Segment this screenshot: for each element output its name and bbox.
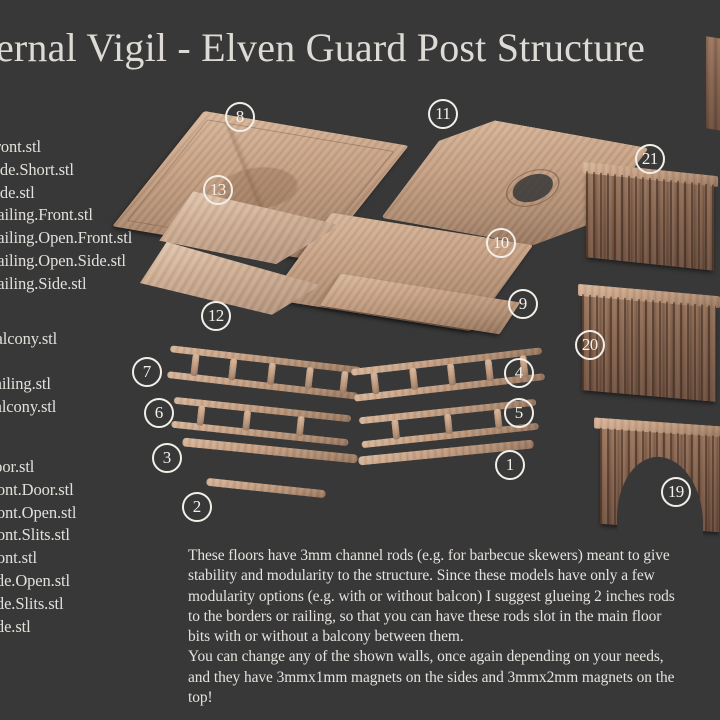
part-marker-11: 11 [428,99,458,129]
part-marker-12: 12 [201,301,231,331]
partial-edge-piece [706,36,720,131]
description-text-block: These floors have 3mm channel rods (e.g.… [188,546,718,708]
part-marker-6: 6 [144,398,174,428]
part-marker-8: 8 [225,102,255,132]
file-list-item: Wall.Front.stl [0,547,185,570]
part-marker-3: 3 [152,443,182,473]
description-line: These floors have 3mm channel rods (e.g.… [188,546,718,566]
file-list-item: Roof.stl [0,305,185,328]
part-marker-5: 5 [504,398,534,428]
part-marker-7: 7 [132,357,162,387]
file-list-item: Wall.Side.stl [0,616,185,639]
description-line: top! [188,688,718,708]
description-line: stability and modularity to the structur… [188,566,718,586]
description-line: and they have 3mmx1mm magnets on the sid… [188,668,718,688]
part-marker-2: 2 [182,492,212,522]
wall-panel-plain-model [586,171,714,270]
description-line: modularity options (e.g. with or without… [188,587,718,607]
page-title: Eternal Vigil - Elven Guard Post Structu… [0,26,645,71]
part-marker-10: 10 [486,228,516,258]
file-list-item: Floor.Front.stl [0,136,185,159]
page-title-bar: Eternal Vigil - Elven Guard Post Structu… [0,26,720,82]
description-line: bits with or without a balcony between t… [188,627,718,647]
file-list-item: Wall.Front.Door.stl [0,479,185,502]
file-list-group-walls: Wall.Door.stl Wall.Front.Door.stl Wall.F… [0,456,185,638]
part-marker-21: 21 [635,144,665,174]
file-list-item: Roof.Balcony.stl [0,328,185,351]
part-marker-20: 20 [575,330,605,360]
wall-panel-open-arch-model [600,428,720,532]
part-marker-9: 9 [508,289,538,319]
file-list-item: Wall.Side.Open.stl [0,570,185,593]
railing-short-model [206,478,326,498]
description-line: to the borders or railing, so that you c… [188,607,718,627]
part-marker-1: 1 [495,450,525,480]
railing-open-front-left-model [167,345,362,401]
file-list-item: Wall.Side.Slits.stl [0,593,185,616]
file-list-item: Wall.Front.Open.stl [0,502,185,525]
description-line: You can change any of the shown walls, o… [188,647,718,667]
part-marker-19: 19 [661,477,691,507]
part-marker-13: 13 [203,175,233,205]
file-list-item: Wall.Front.Slits.stl [0,524,185,547]
part-marker-4: 4 [504,358,534,388]
